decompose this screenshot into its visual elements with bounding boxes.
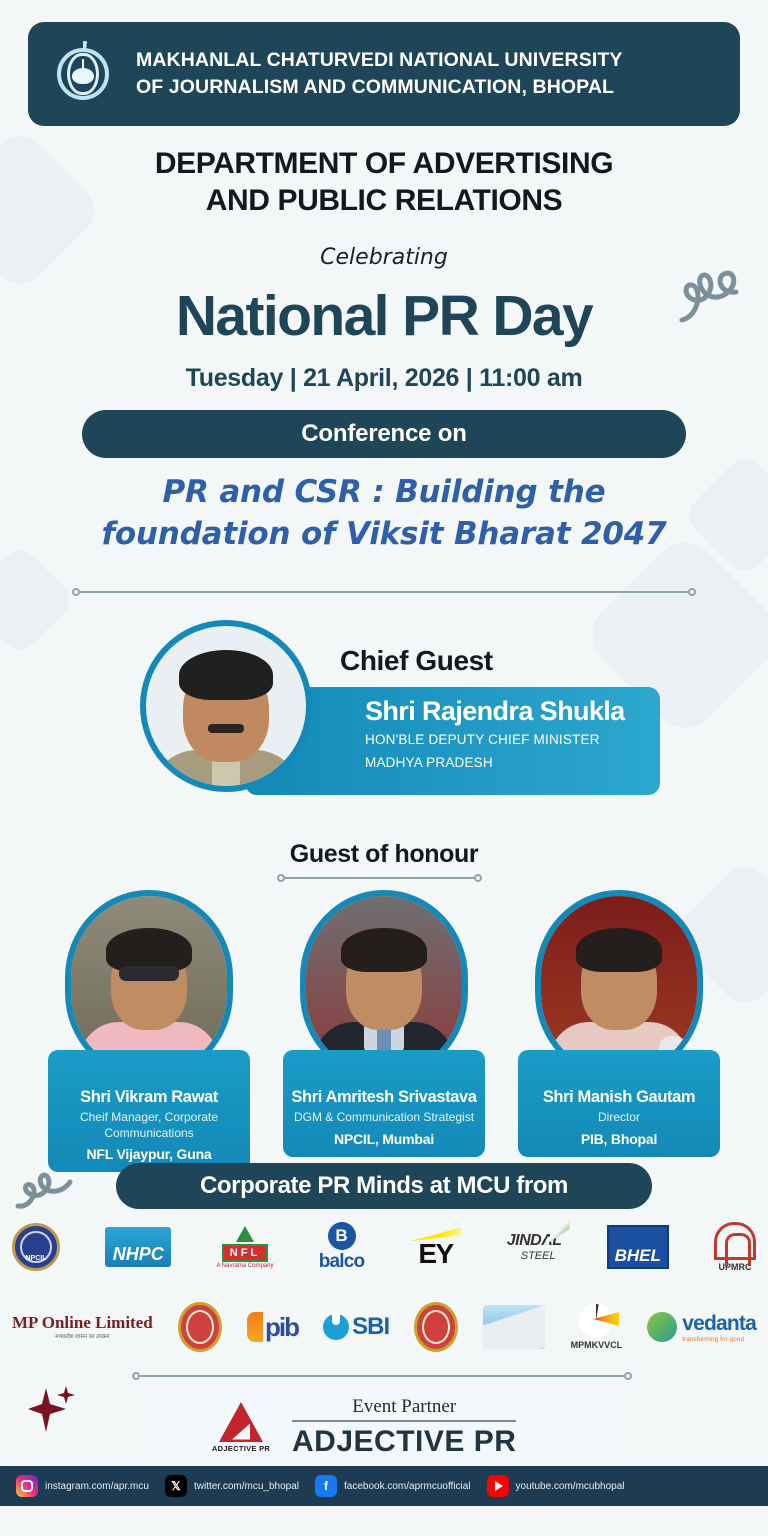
chief-guest-region: MADHYA PRADESH <box>365 753 660 773</box>
guest-role: Director <box>524 1110 714 1126</box>
logo-nhai <box>483 1296 545 1358</box>
conference-theme-line1: PR and CSR : Building the <box>40 472 728 514</box>
social-item-twitter[interactable]: 𝕏 twitter.com/mcu_bhopal <box>165 1475 299 1497</box>
partner-divider <box>132 1372 632 1380</box>
sponsor-logo-row-1: NPCIL NHPC NFL A Navratna Company B balc… <box>12 1216 756 1278</box>
chief-guest-designation: HON'BLE DEPUTY CHIEF MINISTER <box>365 730 660 750</box>
guest-card: Shri Vikram Rawat Cheif Manager, Corpora… <box>48 890 250 1145</box>
conference-theme: PR and CSR : Building the foundation of … <box>40 472 728 555</box>
university-name-line2: OF JOURNALISM AND COMMUNICATION, BHOPAL <box>136 74 622 101</box>
event-partner-label: Event Partner <box>292 1396 516 1422</box>
youtube-handle: youtube.com/mcubhopal <box>516 1481 625 1492</box>
logo-jindal-sub: STEEL <box>521 1250 556 1262</box>
logo-jindal-steel: JINDAL STEEL <box>507 1216 562 1278</box>
corporate-pill-label: Corporate PR Minds at MCU from <box>200 1172 568 1200</box>
logo-balco-caption: balco <box>319 1251 365 1273</box>
guest-name: Shri Vikram Rawat <box>54 1088 244 1107</box>
logo-mpmkvvcl-caption: MPMKVVCL <box>571 1340 623 1350</box>
sparkle-decor-icon <box>26 1384 78 1436</box>
adjective-pr-logo-caption: ADJECTIVE PR <box>212 1444 270 1453</box>
logo-mponline-caption: MP Online Limited <box>12 1313 153 1333</box>
youtube-icon[interactable] <box>487 1475 509 1497</box>
adjective-pr-logo-icon: ADJECTIVE PR <box>206 1402 276 1453</box>
chief-guest-section: Chief Guest Shri Rajendra Shukla HON'BLE… <box>140 615 660 820</box>
guest-role: DGM & Communication Strategist <box>289 1110 479 1126</box>
event-partner-text: Event Partner ADJECTIVE PR <box>292 1396 516 1459</box>
event-title: National PR Day <box>0 283 768 349</box>
logo-nhpc-caption: NHPC <box>105 1227 171 1267</box>
event-partner-band: ADJECTIVE PR Event Partner ADJECTIVE PR <box>152 1390 624 1464</box>
logo-upmrc: UPMRC <box>714 1216 756 1278</box>
squiggle-decor-icon <box>14 1168 84 1218</box>
event-poster: MAKHANLAL CHATURVEDI NATIONAL UNIVERSITY… <box>0 0 768 1536</box>
logo-bhel-caption: BHEL <box>607 1225 669 1269</box>
logo-nhpc: NHPC <box>105 1216 171 1278</box>
logo-state-emblem <box>414 1296 458 1358</box>
chief-guest-name: Shri Rajendra Shukla <box>365 697 660 727</box>
logo-nfl-sub: A Navratna Company <box>216 1263 273 1269</box>
conference-pill-label: Conference on <box>301 420 466 448</box>
facebook-icon[interactable]: f <box>315 1475 337 1497</box>
guest-role: Cheif Manager, Corporate Communications <box>54 1110 244 1141</box>
university-header-bar: MAKHANLAL CHATURVEDI NATIONAL UNIVERSITY… <box>28 22 740 126</box>
twitter-x-icon[interactable]: 𝕏 <box>165 1475 187 1497</box>
guest-card: Shri Amritesh Srivastava DGM & Communica… <box>283 890 485 1145</box>
logo-nfl-caption: NFL <box>222 1244 268 1262</box>
logo-sbi: SBI <box>323 1296 389 1358</box>
event-datetime: Tuesday | 21 April, 2026 | 11:00 am <box>0 364 768 393</box>
logo-vedanta-sub: transforming for good <box>682 1336 756 1343</box>
guest-card: Shri Manish Gautam Director PIB, Bhopal <box>518 890 720 1145</box>
social-footer-bar: instagram.com/apr.mcu 𝕏 twitter.com/mcu_… <box>0 1466 768 1506</box>
logo-ey-caption: EY <box>418 1241 452 1266</box>
logo-pib: pib <box>247 1296 298 1358</box>
logo-sbi-caption: SBI <box>352 1313 389 1341</box>
instagram-handle: instagram.com/apr.mcu <box>45 1481 149 1492</box>
social-item-youtube[interactable]: youtube.com/mcubhopal <box>487 1475 625 1497</box>
logo-pib-caption: pib <box>265 1312 298 1343</box>
logo-ey: EY <box>410 1216 462 1278</box>
guest-info-card: Shri Vikram Rawat Cheif Manager, Corpora… <box>48 1050 250 1172</box>
conference-theme-line2: foundation of Viksit Bharat 2047 <box>40 514 728 556</box>
department-title: DEPARTMENT OF ADVERTISING AND PUBLIC REL… <box>0 146 768 219</box>
logo-vedanta-caption: vedanta <box>682 1312 756 1336</box>
event-partner-name: ADJECTIVE PR <box>292 1425 516 1459</box>
logo-mponline-sub: मध्यप्रदेश शासन का उपक्रम <box>12 1334 153 1341</box>
social-item-instagram[interactable]: instagram.com/apr.mcu <box>16 1475 149 1497</box>
squiggle-decor-icon <box>676 262 756 328</box>
conference-pill: Conference on <box>82 410 686 458</box>
logo-nfl: NFL A Navratna Company <box>216 1216 273 1278</box>
guest-org: NPCIL, Mumbai <box>289 1131 479 1147</box>
guest-org: NFL Vijaypur, Guna <box>54 1146 244 1162</box>
guest-info-card: Shri Amritesh Srivastava DGM & Communica… <box>283 1050 485 1157</box>
twitter-handle: twitter.com/mcu_bhopal <box>194 1481 299 1492</box>
theme-divider <box>72 588 696 596</box>
department-title-line1: DEPARTMENT OF ADVERTISING <box>0 146 768 183</box>
guest-of-honour-row: Shri Vikram Rawat Cheif Manager, Corpora… <box>48 890 720 1145</box>
logo-balco: B balco <box>319 1216 365 1278</box>
instagram-icon[interactable] <box>16 1475 38 1497</box>
background-diamond-decor <box>0 543 77 656</box>
logo-mpmkvvcl: MPMKVVCL <box>571 1296 623 1358</box>
guest-name: Shri Manish Gautam <box>524 1088 714 1107</box>
logo-bhel: BHEL <box>607 1216 669 1278</box>
facebook-handle: facebook.com/aprmcuofficial <box>344 1481 471 1492</box>
chief-guest-photo <box>140 620 312 792</box>
logo-vedanta: vedanta transforming for good <box>647 1296 756 1358</box>
chief-guest-label: Chief Guest <box>340 645 493 677</box>
department-title-line2: AND PUBLIC RELATIONS <box>0 183 768 220</box>
guest-org: PIB, Bhopal <box>524 1131 714 1147</box>
university-name-line1: MAKHANLAL CHATURVEDI NATIONAL UNIVERSITY <box>136 47 622 74</box>
guest-of-honour-divider <box>277 874 482 882</box>
guest-info-card: Shri Manish Gautam Director PIB, Bhopal <box>518 1050 720 1157</box>
university-name: MAKHANLAL CHATURVEDI NATIONAL UNIVERSITY… <box>136 47 622 101</box>
logo-npcil-caption: NPCIL <box>15 1255 57 1262</box>
celebrating-label: Celebrating <box>0 245 768 270</box>
logo-mponline: MP Online Limited मध्यप्रदेश शासन का उपक… <box>12 1296 153 1358</box>
guest-of-honour-label: Guest of honour <box>0 840 768 869</box>
university-emblem-icon <box>50 41 116 107</box>
corporate-pill: Corporate PR Minds at MCU from <box>116 1163 652 1209</box>
guest-name: Shri Amritesh Srivastava <box>289 1088 479 1107</box>
sponsor-logo-row-2: MP Online Limited मध्यप्रदेश शासन का उपक… <box>12 1296 756 1358</box>
logo-government-emblem <box>178 1296 222 1358</box>
logo-npcil: NPCIL <box>12 1216 60 1278</box>
social-item-facebook[interactable]: f facebook.com/aprmcuofficial <box>315 1475 471 1497</box>
